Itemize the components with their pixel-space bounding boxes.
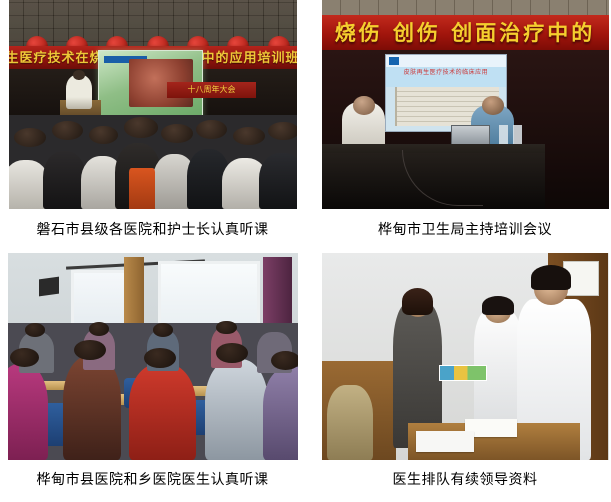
attendee [8, 364, 49, 460]
speaker-body [66, 75, 92, 108]
photo-top-left-scene: 生医疗技术在烧伤创伤创面治疗中的应用培训班 十八周年大会 [9, 0, 297, 209]
attendee-head [216, 321, 236, 335]
paper-stack-front [416, 431, 473, 452]
wall-speaker [39, 276, 59, 295]
gallery-cell-bottom-left: 桦甸市县医院和乡医院医生认真听课 [0, 251, 305, 502]
audience-head [268, 122, 297, 141]
secondary-banner: 十八周年大会 [167, 82, 256, 99]
seated-man-right-head [482, 96, 504, 115]
attendee [205, 359, 269, 460]
attendee-head [144, 348, 176, 368]
gallery-cell-top-right: 皮肤再生医疗技术的临床应用 烧伤 创伤 创面治疗中的 桦甸市卫生局主持培训会议 [305, 0, 611, 251]
audience-head [233, 127, 265, 145]
attendee-head [216, 343, 248, 363]
slide-title: 皮肤再生医疗技术的临床应用 [386, 67, 507, 76]
gallery-cell-top-left: 生医疗技术在烧伤创伤创面治疗中的应用培训班 十八周年大会 [0, 0, 305, 251]
audience-head [124, 117, 159, 138]
caption-bottom-left: 桦甸市县医院和乡医院医生认真听课 [37, 473, 269, 487]
photo-bottom-right-scene [322, 253, 609, 460]
photo-bottom-right[interactable] [322, 253, 609, 460]
audience-head [161, 124, 193, 143]
attendee-head [25, 323, 45, 337]
attendee-head [89, 322, 109, 336]
seated-man-left-head [353, 96, 375, 115]
doctor-middle-hair [482, 296, 514, 315]
audience-head [52, 121, 84, 141]
woman-hair [402, 288, 434, 315]
red-banner-text: 烧伤 创伤 创面治疗中的 [322, 17, 609, 48]
photo-bottom-left-scene [8, 253, 298, 460]
caption-bottom-right: 医生排队有续领导资料 [393, 473, 538, 487]
attendee [129, 364, 196, 460]
attendee [63, 356, 121, 460]
attendee-head [271, 351, 297, 370]
doctor-right-hair [531, 265, 571, 290]
caption-top-left: 磐石市县级各医院和护士长认真听课 [37, 223, 269, 237]
attendee [263, 367, 298, 460]
handed-booklet [439, 365, 487, 381]
attendee-crowd [8, 323, 298, 460]
audience-block [9, 115, 297, 209]
photo-gallery: 生医疗技术在烧伤创伤创面治疗中的应用培训班 十八周年大会 [0, 0, 611, 502]
caption-top-right: 桦甸市卫生局主持培训会议 [378, 223, 552, 237]
gallery-cell-bottom-right: 医生排队有续领导资料 [305, 251, 611, 502]
laptop [451, 125, 490, 146]
office-chair [327, 385, 373, 460]
photo-top-left[interactable]: 生医疗技术在烧伤创伤创面治疗中的应用培训班 十八周年大会 [9, 0, 297, 209]
photo-top-right[interactable]: 皮肤再生医疗技术的临床应用 烧伤 创伤 创面治疗中的 [322, 0, 609, 209]
secondary-banner-text: 十八周年大会 [167, 82, 256, 97]
audience-head [89, 126, 118, 144]
audience-head [196, 120, 228, 140]
photo-bottom-left[interactable] [8, 253, 298, 460]
photo-top-right-scene: 皮肤再生医疗技术的临床应用 烧伤 创伤 创面治疗中的 [322, 0, 609, 209]
attendee-head [153, 323, 173, 337]
audience-head [14, 128, 46, 147]
water-bottles [499, 125, 522, 146]
slide-logo [389, 57, 435, 65]
